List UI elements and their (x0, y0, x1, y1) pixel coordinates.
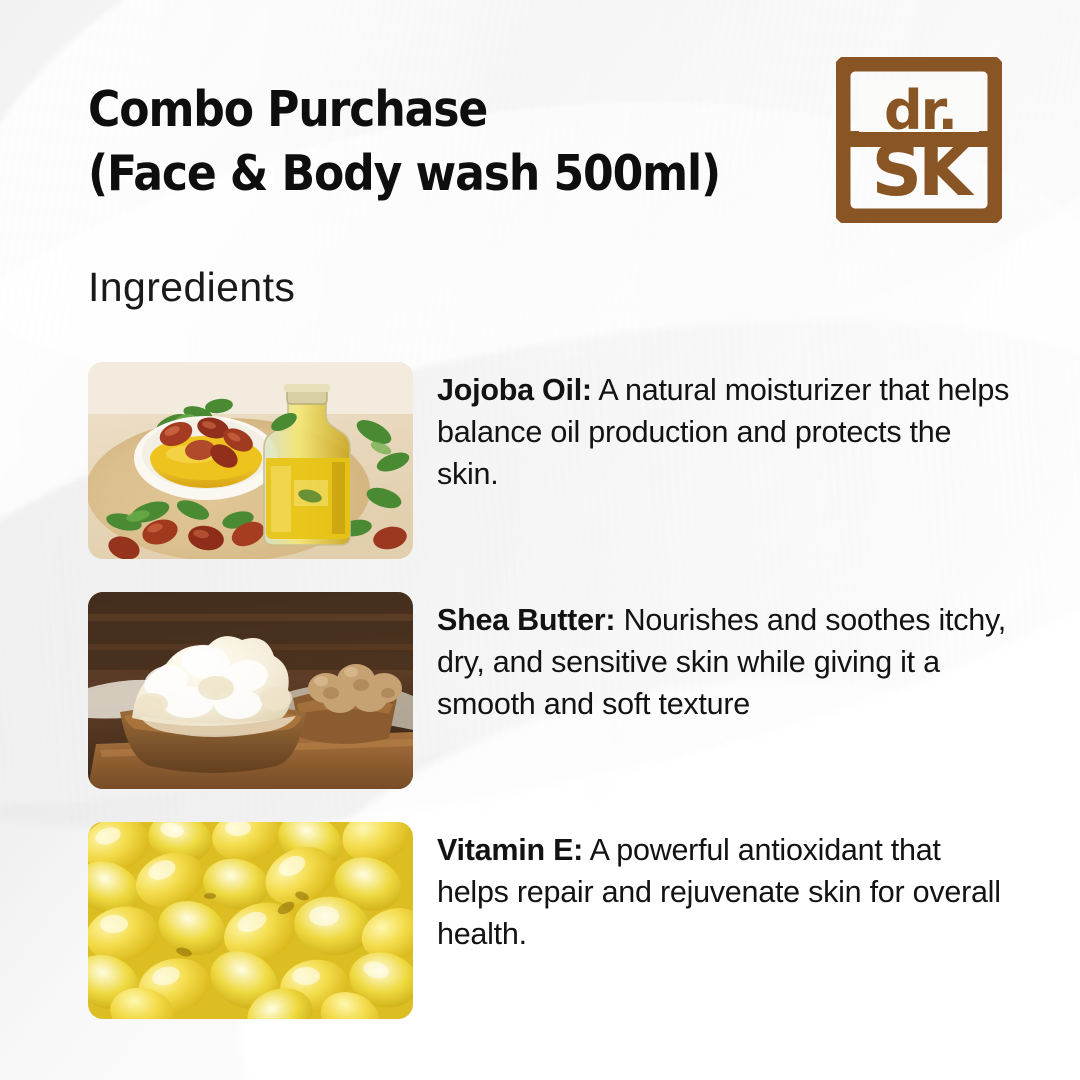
section-heading-ingredients: Ingredients (88, 264, 295, 311)
ingredient-row-vitamin-e: Vitamin E: A powerful antioxidant that h… (88, 822, 1028, 1052)
ingredient-description: Shea Butter: Nourishes and soothes itchy… (437, 600, 1012, 725)
ingredient-description: Vitamin E: A powerful antioxidant that h… (437, 830, 1012, 955)
jojoba-oil-image (88, 362, 413, 559)
ingredient-row-shea-butter: Shea Butter: Nourishes and soothes itchy… (88, 592, 1028, 822)
ingredient-name: Shea Butter: (437, 603, 615, 637)
ingredient-name: Jojoba Oil: (437, 373, 592, 407)
ingredient-name: Vitamin E: (437, 833, 583, 867)
page-title-line-2: (Face & Body wash 500ml) (88, 142, 788, 206)
svg-text:SK: SK (872, 130, 975, 212)
page-title-line-1: Combo Purchase (88, 78, 788, 142)
shea-butter-image (88, 592, 413, 789)
ingredient-row-jojoba-oil: Jojoba Oil: A natural moisturizer that h… (88, 362, 1028, 592)
ingredient-description: Jojoba Oil: A natural moisturizer that h… (437, 370, 1012, 495)
vitamin-e-image (88, 822, 413, 1019)
brand-logo: dr. SK (836, 57, 1002, 223)
product-infographic: Combo Purchase (Face & Body wash 500ml) … (0, 0, 1080, 1080)
ingredient-list: Jojoba Oil: A natural moisturizer that h… (88, 362, 1028, 1052)
page-title: Combo Purchase (Face & Body wash 500ml) (88, 78, 788, 205)
